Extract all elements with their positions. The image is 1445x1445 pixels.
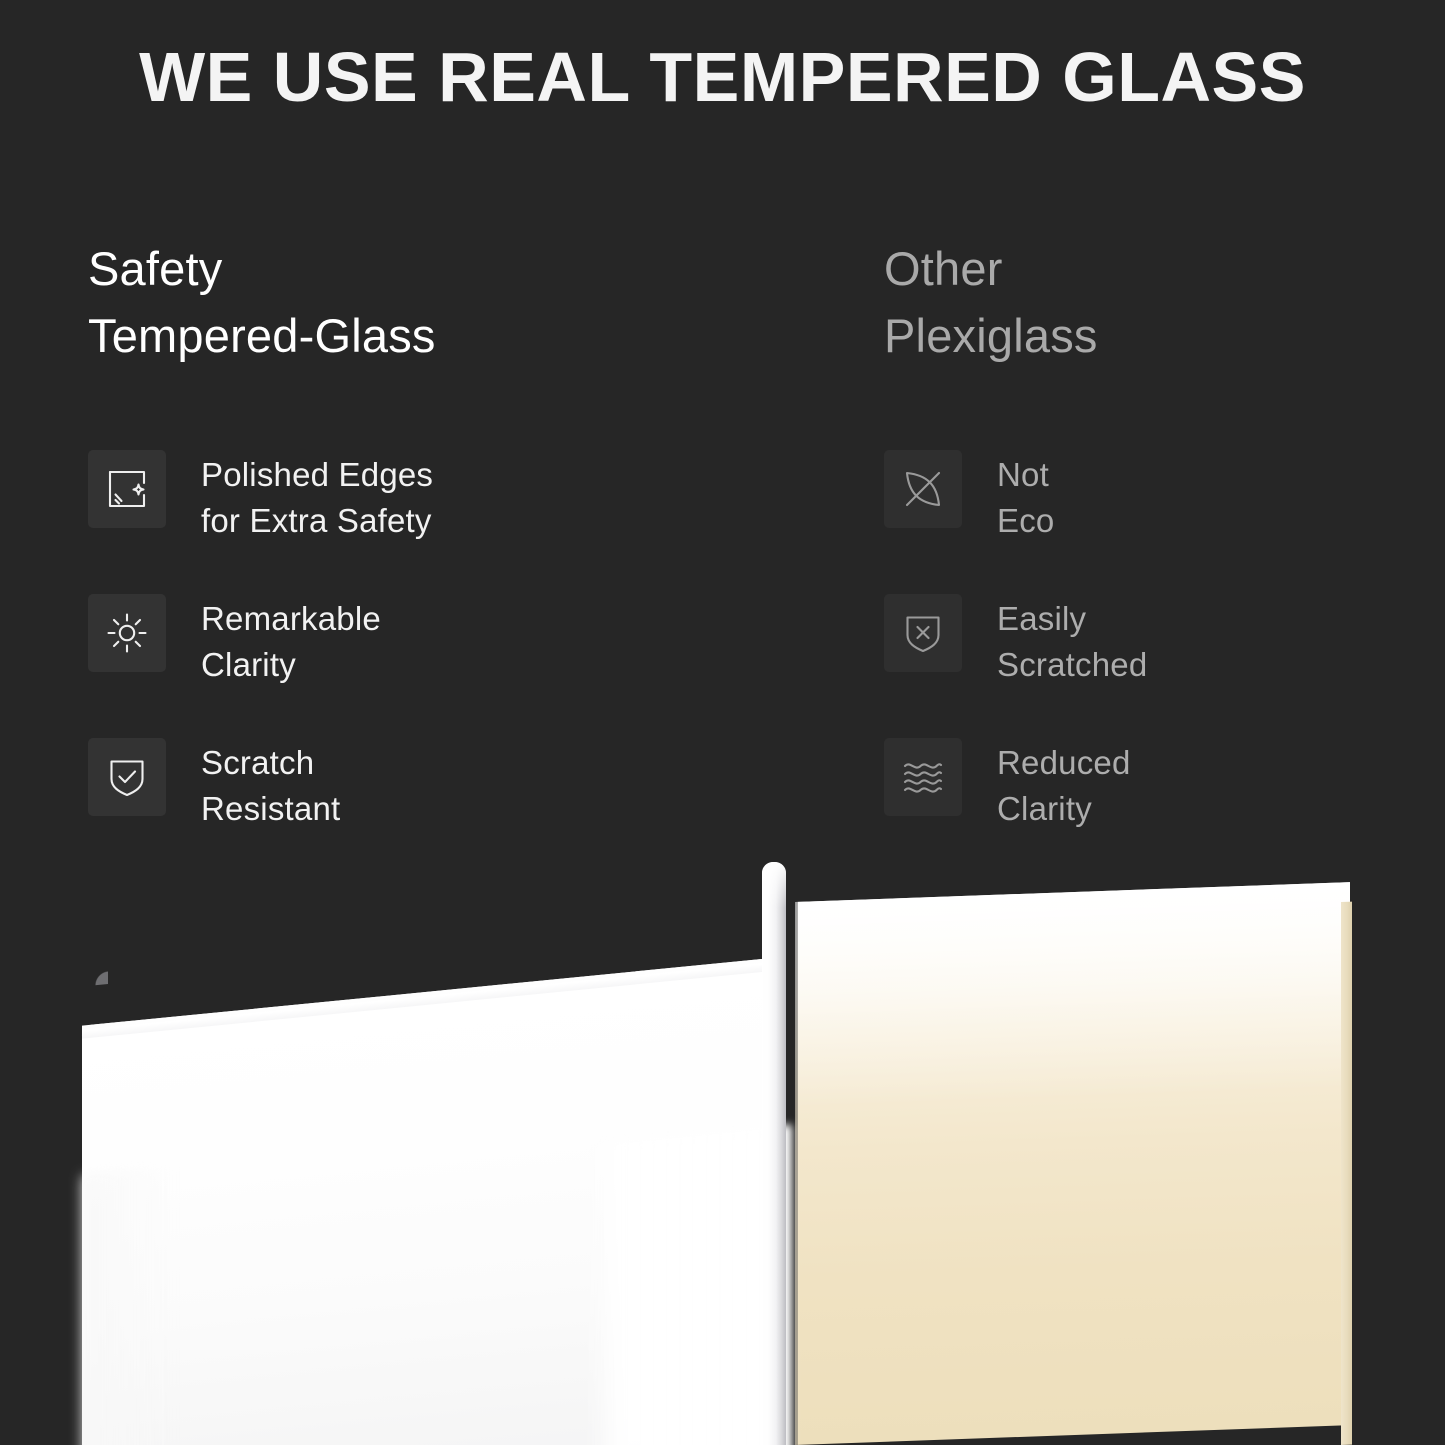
plexiglass-pane (795, 882, 1350, 1445)
feature-label: Polished Edges for Extra Safety (201, 448, 433, 543)
polished-glass-sparkle-icon (88, 450, 166, 528)
tempered-glass-corner-radius (82, 958, 108, 987)
feature-row: Remarkable Clarity (88, 592, 433, 736)
feature-row: Not Eco (884, 448, 1147, 592)
page-title: WE USE REAL TEMPERED GLASS (0, 42, 1445, 112)
feature-row: Polished Edges for Extra Safety (88, 448, 433, 592)
shield-check-icon (88, 738, 166, 816)
glass-panes-photo (0, 840, 1445, 1445)
feature-list-right: Not Eco Easily Scratched (884, 448, 1147, 880)
sun-clarity-icon (88, 594, 166, 672)
feature-list-left: Polished Edges for Extra Safety (88, 448, 433, 880)
column-heading-left: Safety Tempered-Glass (88, 236, 788, 369)
comparison-infographic: WE USE REAL TEMPERED GLASS Safety Temper… (0, 0, 1445, 1445)
column-heading-right: Other Plexiglass (884, 236, 1404, 369)
feature-label: Remarkable Clarity (201, 592, 381, 687)
feature-label: Reduced Clarity (997, 736, 1131, 831)
column-tempered-glass: Safety Tempered-Glass Polished Edges for… (88, 236, 788, 369)
feature-label: Scratch Resistant (201, 736, 340, 831)
feature-row: Easily Scratched (884, 592, 1147, 736)
plexiglass-pane-edge (1341, 902, 1352, 1445)
wavy-lines-icon (884, 738, 962, 816)
column-plexiglass: Other Plexiglass Not Eco (884, 236, 1404, 369)
feature-label: Not Eco (997, 448, 1054, 543)
tempered-glass-edge-gloss (762, 862, 786, 908)
tempered-glass-reflection-left (82, 1167, 172, 1445)
tempered-glass-pane (82, 958, 772, 1445)
leaf-crossed-out-icon (884, 450, 962, 528)
tempered-glass-polished-edge (762, 862, 786, 1445)
shield-x-icon (884, 594, 962, 672)
feature-label: Easily Scratched (997, 592, 1147, 687)
